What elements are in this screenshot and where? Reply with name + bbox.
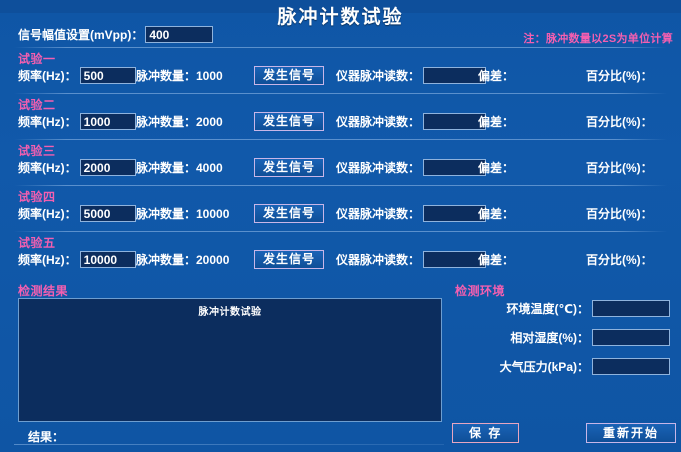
percentage-label: 百分比(%)： — [586, 251, 676, 268]
amplitude-input[interactable] — [145, 26, 213, 43]
test-section-title: 试验四 — [18, 188, 56, 205]
detection-result-box-text: 脉冲计数试验 — [19, 303, 441, 318]
relative-humidity-row: 相对湿度(%)： — [455, 329, 670, 346]
pulse-count-value: 脉冲数量：1000 — [136, 67, 254, 84]
atmospheric-pressure-input[interactable] — [592, 358, 670, 375]
frequency-input[interactable] — [80, 159, 136, 176]
detection-result-box[interactable]: 脉冲计数试验 — [18, 298, 442, 422]
deviation-label: 偏差： — [478, 159, 586, 176]
pulse-count-test-window: 脉冲计数试验 注：脉冲数量以2S为单位计算 信号幅值设置(mVpp)： 试验一 … — [0, 0, 681, 452]
test-row: 频率(Hz)： 脉冲数量：2000 发生信号 仪器脉冲读数： 偏差： 百分比(%… — [18, 112, 676, 131]
percentage-label: 百分比(%)： — [586, 113, 676, 130]
instrument-reading-label: 仪器脉冲读数： — [336, 113, 420, 130]
test-row: 频率(Hz)： 脉冲数量：10000 发生信号 仪器脉冲读数： 偏差： 百分比(… — [18, 204, 676, 223]
test-section-title: 试验一 — [18, 50, 56, 67]
instrument-reading-input[interactable] — [423, 205, 486, 222]
instrument-reading-input[interactable] — [423, 251, 486, 268]
save-button[interactable]: 保 存 — [452, 423, 519, 443]
restart-button[interactable]: 重新开始 — [586, 423, 676, 443]
instrument-reading-input[interactable] — [423, 159, 486, 176]
instrument-reading-input[interactable] — [423, 113, 486, 130]
result-label: 结果： — [28, 428, 64, 445]
frequency-label: 频率(Hz)： — [18, 251, 77, 268]
pulse-count-value: 脉冲数量：10000 — [136, 205, 254, 222]
generate-signal-button[interactable]: 发生信号 — [254, 112, 324, 131]
relative-humidity-input[interactable] — [592, 329, 670, 346]
section-divider — [14, 185, 667, 186]
generate-signal-button[interactable]: 发生信号 — [254, 250, 324, 269]
instrument-reading-label: 仪器脉冲读数： — [336, 159, 420, 176]
section-divider — [14, 47, 667, 48]
frequency-label: 频率(Hz)： — [18, 205, 77, 222]
section-divider — [14, 139, 667, 140]
result-underline — [14, 444, 444, 445]
environment-temperature-row: 环境温度(℃)： — [455, 300, 670, 317]
instrument-reading-label: 仪器脉冲读数： — [336, 67, 420, 84]
pulse-count-value: 脉冲数量：2000 — [136, 113, 254, 130]
environment-title: 检测环境 — [455, 282, 505, 299]
deviation-label: 偏差： — [478, 251, 586, 268]
pulse-count-value: 脉冲数量：20000 — [136, 251, 254, 268]
test-section-title: 试验三 — [18, 142, 56, 159]
frequency-input[interactable] — [80, 205, 136, 222]
test-section-title: 试验二 — [18, 96, 56, 113]
pulse-count-value: 脉冲数量：4000 — [136, 159, 254, 176]
amplitude-setting-row: 信号幅值设置(mVpp)： — [18, 26, 213, 43]
deviation-label: 偏差： — [478, 67, 586, 84]
frequency-input[interactable] — [80, 67, 136, 84]
environment-temperature-label: 环境温度(℃)： — [506, 300, 589, 317]
deviation-label: 偏差： — [478, 205, 586, 222]
section-divider — [14, 93, 667, 94]
test-row: 频率(Hz)： 脉冲数量：1000 发生信号 仪器脉冲读数： 偏差： 百分比(%… — [18, 66, 676, 85]
frequency-label: 频率(Hz)： — [18, 113, 77, 130]
instrument-reading-input[interactable] — [423, 67, 486, 84]
test-row: 频率(Hz)： 脉冲数量：4000 发生信号 仪器脉冲读数： 偏差： 百分比(%… — [18, 158, 676, 177]
percentage-label: 百分比(%)： — [586, 205, 676, 222]
deviation-label: 偏差： — [478, 113, 586, 130]
detection-result-title: 检测结果 — [18, 282, 68, 299]
frequency-label: 频率(Hz)： — [18, 67, 77, 84]
test-row: 频率(Hz)： 脉冲数量：20000 发生信号 仪器脉冲读数： 偏差： 百分比(… — [18, 250, 676, 269]
environment-temperature-input[interactable] — [592, 300, 670, 317]
percentage-label: 百分比(%)： — [586, 67, 676, 84]
relative-humidity-label: 相对湿度(%)： — [510, 329, 589, 346]
note-text: 注：脉冲数量以2S为单位计算 — [523, 30, 673, 46]
frequency-label: 频率(Hz)： — [18, 159, 77, 176]
test-section-title: 试验五 — [18, 234, 56, 251]
frequency-input[interactable] — [80, 251, 136, 268]
amplitude-label: 信号幅值设置(mVpp)： — [18, 26, 143, 43]
generate-signal-button[interactable]: 发生信号 — [254, 66, 324, 85]
percentage-label: 百分比(%)： — [586, 159, 676, 176]
instrument-reading-label: 仪器脉冲读数： — [336, 251, 420, 268]
section-divider — [14, 231, 667, 232]
generate-signal-button[interactable]: 发生信号 — [254, 204, 324, 223]
generate-signal-button[interactable]: 发生信号 — [254, 158, 324, 177]
instrument-reading-label: 仪器脉冲读数： — [336, 205, 420, 222]
frequency-input[interactable] — [80, 113, 136, 130]
atmospheric-pressure-row: 大气压力(kPa)： — [455, 358, 670, 375]
atmospheric-pressure-label: 大气压力(kPa)： — [500, 358, 589, 375]
page-title: 脉冲计数试验 — [0, 2, 681, 29]
